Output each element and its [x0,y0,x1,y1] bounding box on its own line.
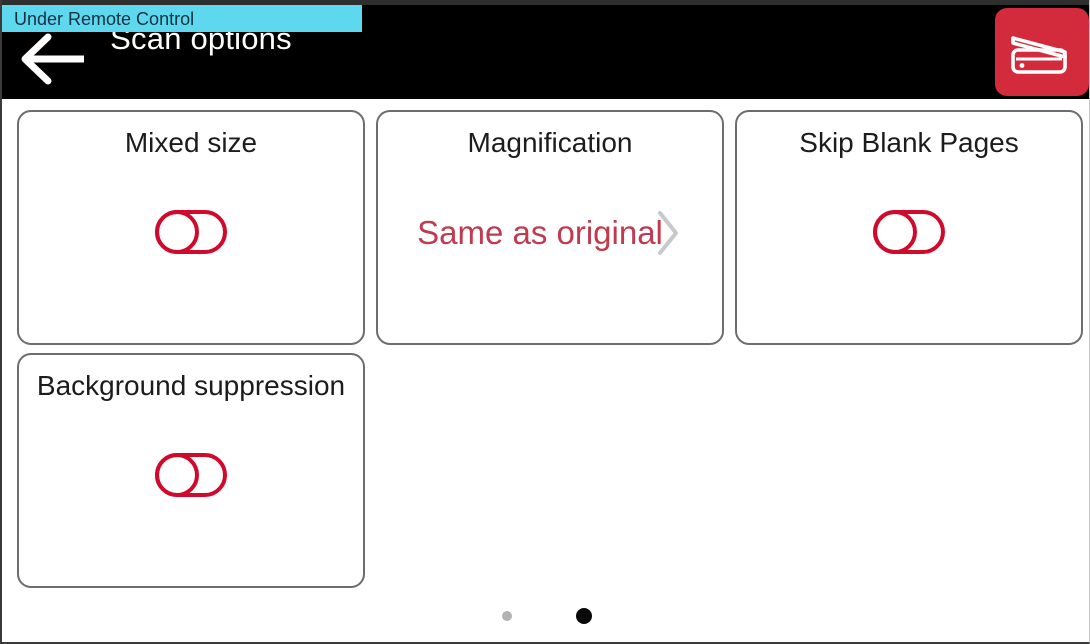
card-row-1: Mixed size Magnification Same as origina… [17,110,1079,345]
card-background-suppression[interactable]: Background suppression [17,353,365,588]
toggle-wrap [19,453,363,497]
chevron-right-icon [653,207,683,259]
card-title: Background suppression [29,369,353,402]
card-mixed-size[interactable]: Mixed size [17,110,365,345]
toggle-knob [155,453,199,497]
remote-control-banner-text: Under Remote Control [2,10,194,28]
magnification-value: Same as original [417,214,663,252]
toggle-skip-blank-pages[interactable] [873,210,945,254]
toggle-knob [873,210,917,254]
card-title: Magnification [388,126,712,159]
toggle-wrap [737,210,1081,254]
pagination-dot-2[interactable] [576,608,592,624]
pagination-dots [2,608,1090,624]
toggle-knob [155,210,199,254]
value-wrap: Same as original [378,207,722,259]
card-skip-blank-pages[interactable]: Skip Blank Pages [735,110,1083,345]
toggle-wrap [19,210,363,254]
scanner-app-icon-button[interactable] [995,8,1089,96]
card-row-2: Background suppression [17,353,1079,588]
scan-options-screen: Scan options Under Remote Control Mi [0,0,1090,644]
remote-control-banner: Under Remote Control [2,5,362,32]
card-title: Skip Blank Pages [747,126,1071,159]
toggle-mixed-size[interactable] [155,210,227,254]
card-magnification[interactable]: Magnification Same as original [376,110,724,345]
scan-options-grid: Mixed size Magnification Same as origina… [17,110,1079,596]
pagination-dot-1[interactable] [502,611,512,621]
card-title: Mixed size [29,126,353,159]
toggle-background-suppression[interactable] [155,453,227,497]
